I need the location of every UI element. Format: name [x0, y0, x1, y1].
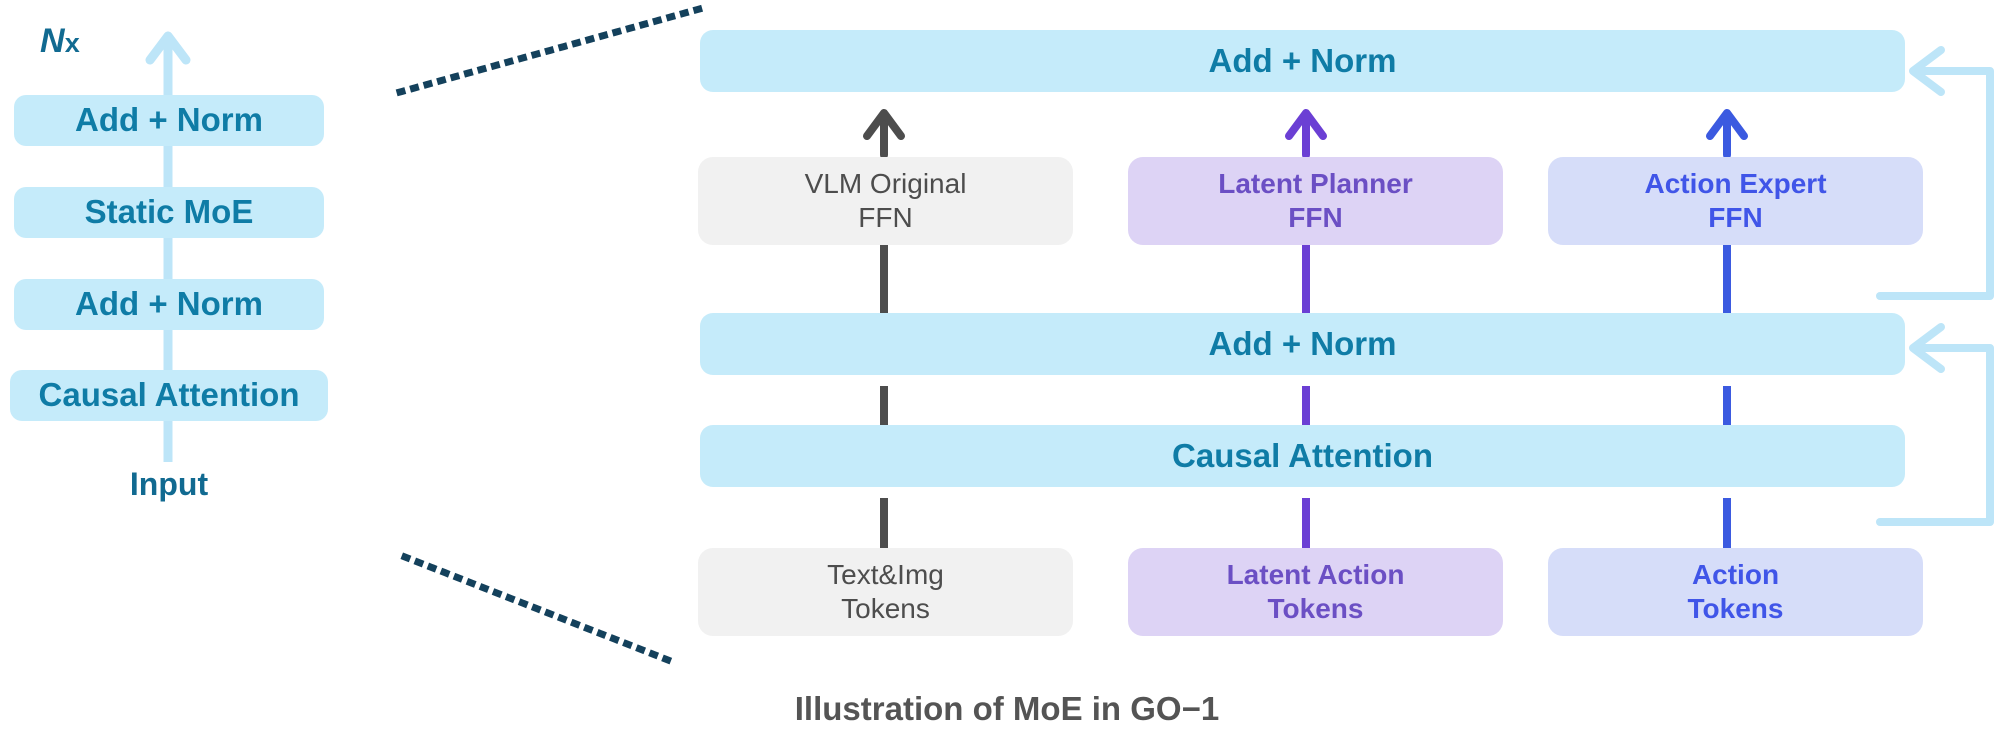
tokens-action[interactable]: Action Tokens: [1548, 548, 1923, 636]
right-block-add-norm-top[interactable]: Add + Norm: [700, 30, 1905, 92]
skip-path-lower: [1904, 348, 1990, 522]
tokens-latent-action[interactable]: Latent Action Tokens: [1128, 548, 1503, 636]
skip-arrowhead-lower: [1913, 327, 1941, 369]
expert-vlm-original-ffn[interactable]: VLM Original FFN: [698, 157, 1073, 245]
latent-planner-output-arrow: [1289, 113, 1323, 155]
action-expert-output-arrow: [1710, 113, 1744, 155]
repeat-count-n: N: [40, 22, 65, 60]
repeat-count-label: Nx: [40, 22, 80, 61]
left-input-label: Input: [10, 466, 328, 503]
token-column-connectors: [884, 222, 1727, 548]
right-block-add-norm-mid[interactable]: Add + Norm: [700, 313, 1905, 375]
skip-arrowhead-upper: [1913, 50, 1941, 92]
left-block-add-norm-bottom[interactable]: Add + Norm: [14, 279, 324, 330]
figure-canvas: Nx Add + Norm Static MoE Add + Norm Caus…: [0, 0, 2014, 748]
expert-action-expert-ffn[interactable]: Action Expert FFN: [1548, 157, 1923, 245]
figure-caption: Illustration of MoE in GO−1: [0, 690, 2014, 728]
expert-latent-planner-ffn[interactable]: Latent Planner FFN: [1128, 157, 1503, 245]
right-block-causal-attention[interactable]: Causal Attention: [700, 425, 1905, 487]
expert-output-arrows: [867, 113, 1744, 155]
left-block-add-norm-top[interactable]: Add + Norm: [14, 95, 324, 146]
left-block-causal-attention[interactable]: Causal Attention: [10, 370, 328, 421]
expansion-guides: [400, 8, 703, 660]
repeat-count-x: x: [65, 28, 80, 58]
tokens-text-img[interactable]: Text&Img Tokens: [698, 548, 1073, 636]
left-block-static-moe[interactable]: Static MoE: [14, 187, 324, 238]
vlm-output-arrow: [867, 113, 901, 155]
